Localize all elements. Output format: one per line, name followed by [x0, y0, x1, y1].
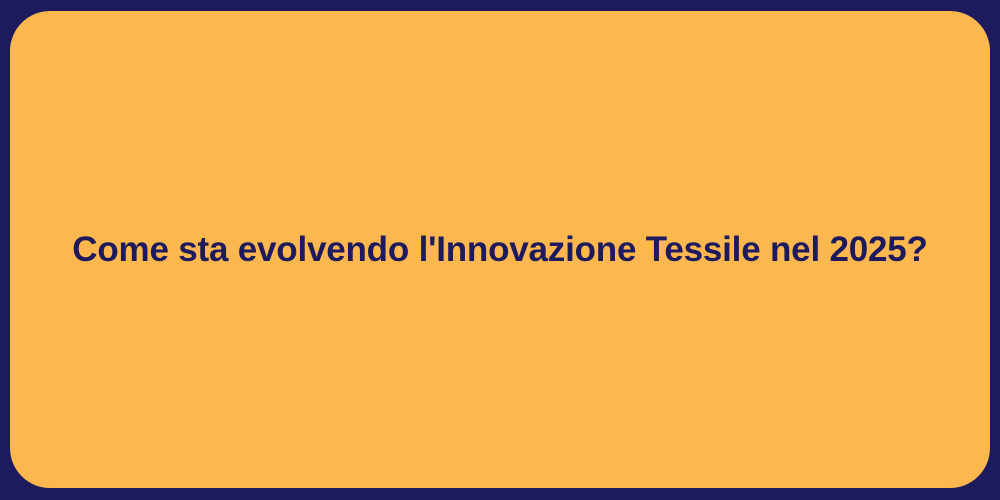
- banner-card: Come sta evolvendo l'Innovazione Tessile…: [10, 11, 990, 488]
- page-title: Come sta evolvendo l'Innovazione Tessile…: [24, 228, 975, 272]
- banner-frame: Come sta evolvendo l'Innovazione Tessile…: [0, 0, 1000, 500]
